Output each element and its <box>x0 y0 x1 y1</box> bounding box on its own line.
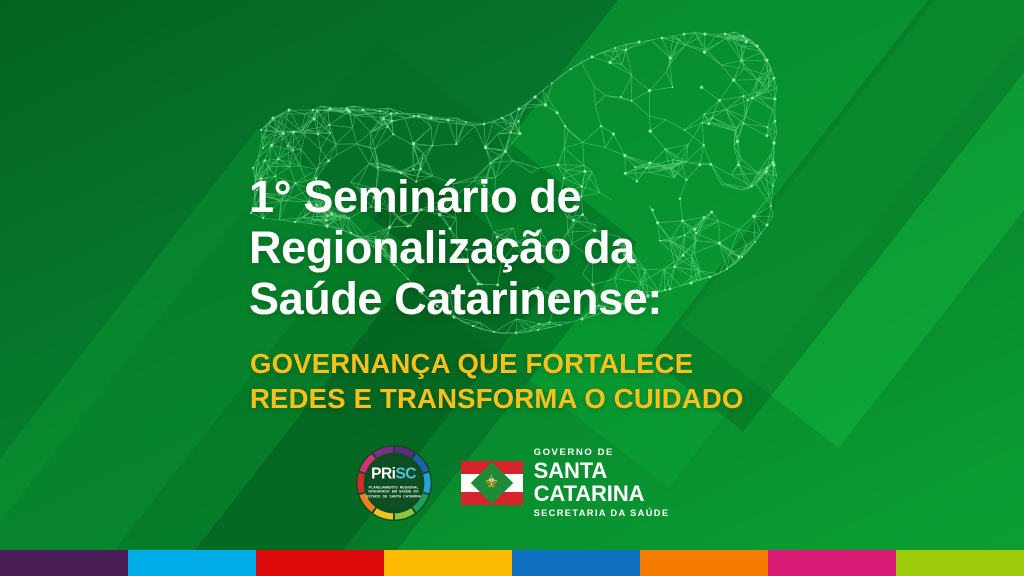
government-line-1: GOVERNO DE <box>534 448 670 458</box>
color-swatch-red <box>256 550 384 576</box>
color-swatch-blue <box>512 550 640 576</box>
page-title: 1° Seminário de Regionalização da Saúde … <box>249 172 809 325</box>
color-swatch-orange <box>640 550 768 576</box>
logo-row: PRiSC PLANEJAMENTO REGIONAL INTEGRADO EM… <box>0 444 1024 522</box>
bottom-color-strip <box>0 550 1024 576</box>
prisc-word-primary: PRi <box>371 465 395 482</box>
subtitle-line-1: GOVERNANÇA QUE FORTALECE <box>250 347 870 382</box>
color-swatch-cyan <box>128 550 256 576</box>
color-swatch-purple <box>0 550 128 576</box>
color-swatch-magenta <box>768 550 896 576</box>
subtitle-line-2: REDES E TRANSFORMA O CUIDADO <box>250 382 870 417</box>
prisc-core-text: PRiSC PLANEJAMENTO REGIONAL INTEGRADO EM… <box>366 466 422 499</box>
color-swatch-amber <box>384 550 512 576</box>
prisc-tagline: PLANEJAMENTO REGIONAL INTEGRADO EM SAÚDE… <box>366 485 422 500</box>
government-line-4: SECRETARIA DA SAÚDE <box>534 509 670 518</box>
government-logo: GOVERNO DE SANTA CATARINA SECRETARIA DA … <box>461 448 670 518</box>
color-swatch-lime <box>896 550 1024 576</box>
headline-line-3: Saúde Catarinense: <box>249 274 809 325</box>
government-line-2: SANTA <box>534 460 670 482</box>
page-subtitle: GOVERNANÇA QUE FORTALECE REDES E TRANSFO… <box>250 347 870 417</box>
headline-line-1: 1° Seminário de <box>249 172 809 223</box>
coat-of-arms-icon <box>483 474 500 491</box>
government-text-block: GOVERNO DE SANTA CATARINA SECRETARIA DA … <box>534 448 670 518</box>
santa-catarina-flag-icon <box>461 461 523 505</box>
headline-line-2: Regionalização da <box>249 223 809 274</box>
prisc-wordmark: PRiSC <box>366 466 422 482</box>
prisc-logo: PRiSC PLANEJAMENTO REGIONAL INTEGRADO EM… <box>355 444 433 522</box>
prisc-word-secondary: SC <box>395 465 416 482</box>
government-line-3: CATARINA <box>534 483 670 505</box>
poster-canvas: 1° Seminário de Regionalização da Saúde … <box>0 0 1024 576</box>
